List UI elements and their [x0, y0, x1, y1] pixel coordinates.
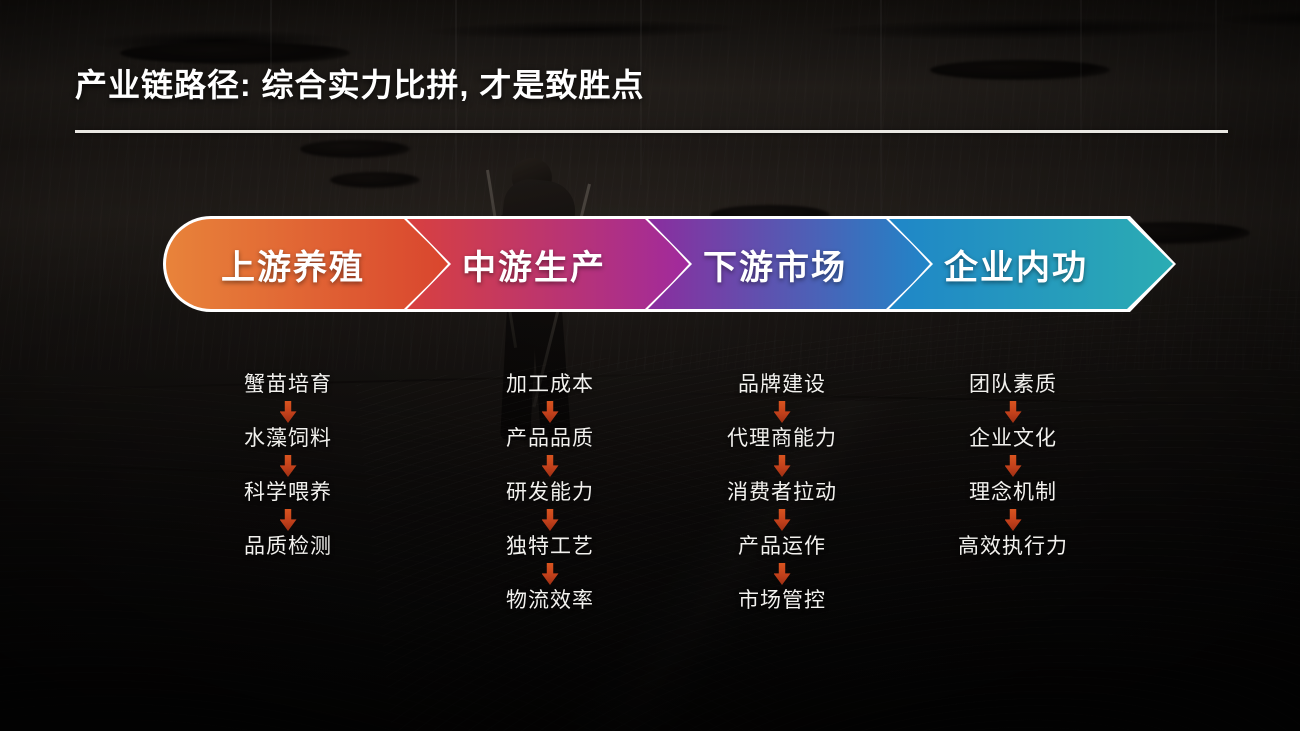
- list-item[interactable]: 研发能力: [506, 480, 594, 506]
- down-arrow-icon: [774, 509, 791, 531]
- down-arrow-icon: [542, 401, 559, 423]
- list-item[interactable]: 加工成本: [506, 372, 594, 398]
- down-arrow-icon: [542, 509, 559, 531]
- slide-canvas: 产业链路径: 综合实力比拼, 才是致胜点 上游养殖中游生产下游市场企业内功 蟹苗…: [0, 0, 1300, 731]
- stage-3-node-list: 品牌建设代理商能力消费者拉动产品运作市场管控: [682, 372, 882, 614]
- down-arrow-icon: [280, 401, 297, 423]
- stage-2-node-list: 加工成本产品品质研发能力独特工艺物流效率: [450, 372, 650, 614]
- list-item[interactable]: 品质检测: [244, 534, 332, 560]
- chevron-stage-1[interactable]: 上游养殖: [166, 219, 450, 309]
- down-arrow-icon: [774, 563, 791, 585]
- down-arrow-icon: [542, 563, 559, 585]
- list-item[interactable]: 产品运作: [738, 534, 826, 560]
- page-title: 产业链路径: 综合实力比拼, 才是致胜点: [75, 60, 644, 106]
- list-item[interactable]: 产品品质: [506, 426, 594, 452]
- stage-detail-columns: 蟹苗培育水藻饲料科学喂养品质检测加工成本产品品质研发能力独特工艺物流效率品牌建设…: [0, 372, 1300, 612]
- list-item[interactable]: 水藻饲料: [244, 426, 332, 452]
- down-arrow-icon: [542, 455, 559, 477]
- list-item[interactable]: 团队素质: [969, 372, 1057, 398]
- stage-1-node-list: 蟹苗培育水藻饲料科学喂养品质检测: [188, 372, 388, 560]
- process-chevron-band: 上游养殖中游生产下游市场企业内功: [0, 216, 1300, 314]
- list-item[interactable]: 高效执行力: [958, 534, 1068, 560]
- chevron-stage-4-label: 企业内功: [944, 240, 1088, 289]
- list-item[interactable]: 市场管控: [738, 588, 826, 614]
- down-arrow-icon: [774, 455, 791, 477]
- list-item[interactable]: 企业文化: [969, 426, 1057, 452]
- list-item[interactable]: 物流效率: [506, 588, 594, 614]
- chevron-stage-3-label: 下游市场: [703, 240, 847, 289]
- stage-4-node-list: 团队素质企业文化理念机制高效执行力: [913, 372, 1113, 560]
- chevron-stage-1-label: 上游养殖: [221, 240, 365, 289]
- list-item[interactable]: 品牌建设: [738, 372, 826, 398]
- list-item[interactable]: 消费者拉动: [727, 480, 837, 506]
- down-arrow-icon: [1005, 455, 1022, 477]
- background-vignette: [0, 0, 1300, 731]
- down-arrow-icon: [1005, 401, 1022, 423]
- list-item[interactable]: 独特工艺: [506, 534, 594, 560]
- list-item[interactable]: 代理商能力: [727, 426, 837, 452]
- down-arrow-icon: [280, 455, 297, 477]
- down-arrow-icon: [774, 401, 791, 423]
- down-arrow-icon: [280, 509, 297, 531]
- title-divider: [75, 130, 1228, 133]
- list-item[interactable]: 科学喂养: [244, 480, 332, 506]
- list-item[interactable]: 理念机制: [969, 480, 1057, 506]
- list-item[interactable]: 蟹苗培育: [244, 372, 332, 398]
- chevron-stage-2-label: 中游生产: [462, 240, 606, 289]
- down-arrow-icon: [1005, 509, 1022, 531]
